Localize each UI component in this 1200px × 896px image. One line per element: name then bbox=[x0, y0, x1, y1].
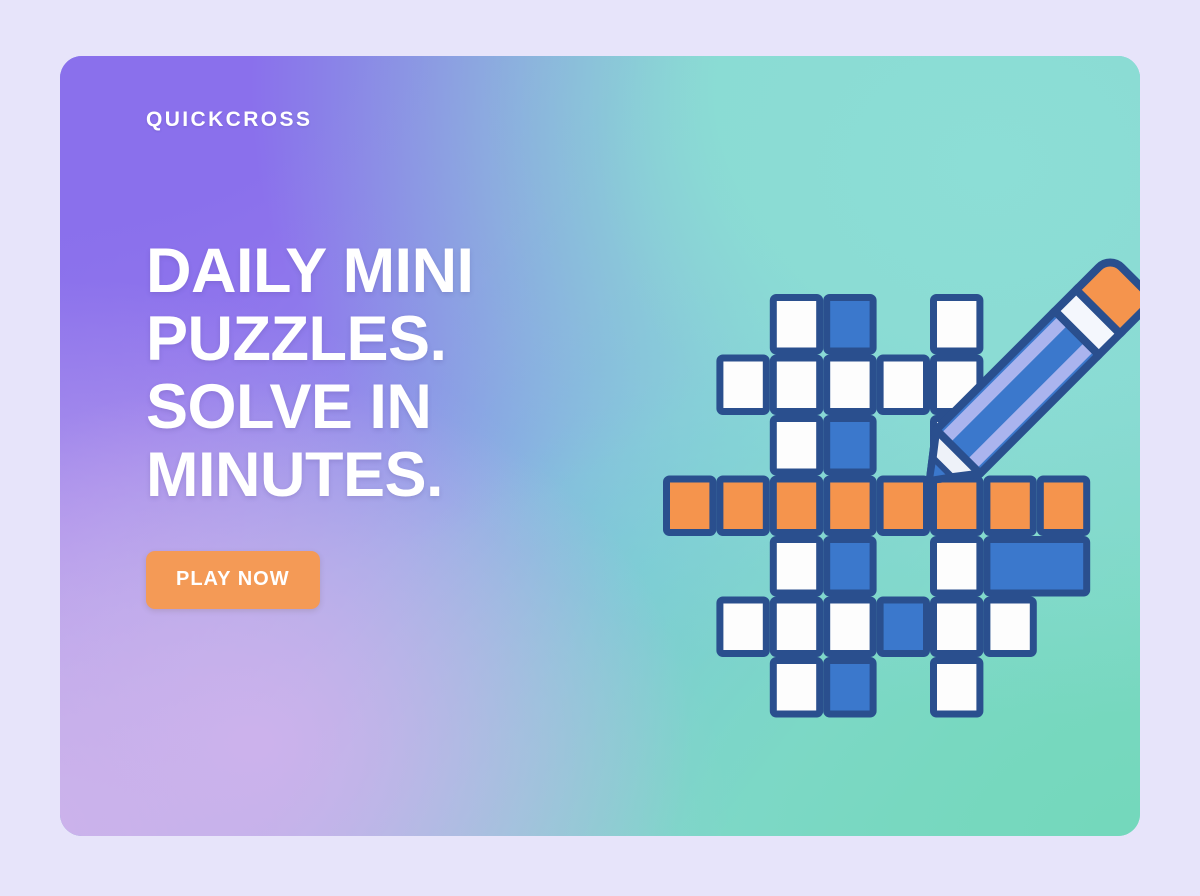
crossword-cell[interactable] bbox=[773, 358, 819, 412]
crossword-cell[interactable] bbox=[934, 298, 980, 352]
crossword-cell[interactable] bbox=[827, 298, 873, 352]
crossword-cell[interactable] bbox=[827, 479, 873, 533]
crossword-cell[interactable] bbox=[934, 661, 980, 715]
hero-card: QUICKCROSS DAILY MINI PUZZLES. SOLVE IN … bbox=[60, 56, 1140, 836]
crossword-cell[interactable] bbox=[987, 600, 1033, 654]
crossword-cell[interactable] bbox=[773, 479, 819, 533]
crossword-cell[interactable] bbox=[987, 479, 1033, 533]
crossword-cell[interactable] bbox=[773, 540, 819, 594]
headline-line-4: MINUTES. bbox=[146, 441, 626, 509]
crossword-cell[interactable] bbox=[827, 600, 873, 654]
crossword-cell[interactable] bbox=[880, 479, 926, 533]
crossword-cell[interactable] bbox=[720, 358, 766, 412]
crossword-cell[interactable] bbox=[827, 358, 873, 412]
play-now-button[interactable]: PLAY NOW bbox=[146, 551, 320, 609]
headline-line-3: SOLVE IN bbox=[146, 373, 626, 441]
crossword-cell[interactable] bbox=[827, 540, 873, 594]
crossword-cell[interactable] bbox=[934, 600, 980, 654]
crossword-cell[interactable] bbox=[1040, 479, 1086, 533]
crossword-cell[interactable] bbox=[667, 479, 713, 533]
crossword-cell[interactable] bbox=[880, 600, 926, 654]
crossword-svg bbox=[600, 216, 1140, 756]
crossword-cell[interactable] bbox=[773, 600, 819, 654]
crossword-illustration bbox=[600, 216, 1140, 756]
crossword-cell[interactable] bbox=[934, 479, 980, 533]
crossword-cell[interactable] bbox=[773, 298, 819, 352]
hero-copy: QUICKCROSS DAILY MINI PUZZLES. SOLVE IN … bbox=[146, 108, 626, 609]
brand-logo[interactable]: QUICKCROSS bbox=[146, 108, 626, 132]
crossword-cell[interactable] bbox=[773, 419, 819, 473]
crossword-cell[interactable] bbox=[773, 661, 819, 715]
crossword-cell[interactable] bbox=[934, 540, 980, 594]
headline-line-2: PUZZLES. bbox=[146, 305, 626, 373]
crossword-cell[interactable] bbox=[720, 600, 766, 654]
crossword-cell[interactable] bbox=[720, 479, 766, 533]
crossword-cell[interactable] bbox=[880, 358, 926, 412]
page-title: DAILY MINI PUZZLES. SOLVE IN MINUTES. bbox=[146, 237, 626, 509]
crossword-cell[interactable] bbox=[827, 661, 873, 715]
crossword-cell[interactable] bbox=[827, 419, 873, 473]
page-root: QUICKCROSS DAILY MINI PUZZLES. SOLVE IN … bbox=[0, 0, 1200, 896]
crossword-cell[interactable] bbox=[987, 540, 1087, 594]
headline-line-1: DAILY MINI bbox=[146, 237, 626, 305]
